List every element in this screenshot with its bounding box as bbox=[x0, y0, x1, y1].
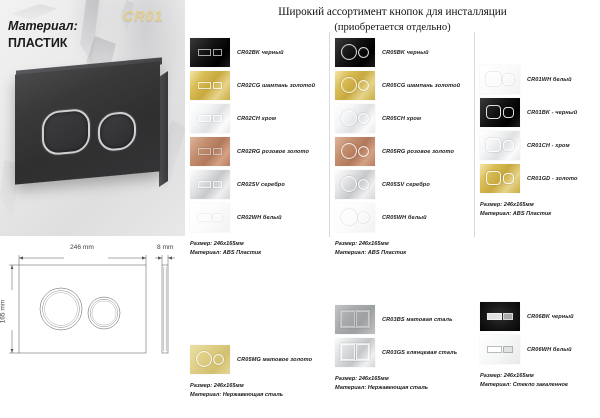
spec-size: Размер: 246х165мм bbox=[335, 240, 406, 249]
swatch-cr05cg[interactable] bbox=[335, 71, 375, 100]
spec-material: Материал: Нержавеющая сталь bbox=[335, 384, 428, 393]
technical-drawing-svg bbox=[0, 238, 185, 418]
swatch-cr05sv[interactable] bbox=[335, 170, 375, 199]
dimension-height-label: 165 mm bbox=[0, 300, 6, 324]
catalog-item-row[interactable]: CR05SV серебро bbox=[335, 170, 430, 199]
column-divider bbox=[474, 32, 475, 237]
button-framed-squares bbox=[335, 305, 375, 334]
catalog-title-line1: Широкий ассортимент кнопок для инсталляц… bbox=[185, 4, 600, 20]
flush-plate-3d-render bbox=[15, 63, 172, 183]
catalog-item-row[interactable]: CR02SV серебро bbox=[190, 170, 285, 199]
catalog-item-label: CR06BK черный bbox=[527, 314, 574, 320]
catalog-item-label: CR03BS матовая сталь bbox=[382, 317, 453, 323]
catalog-item-row[interactable]: CR06WH белый bbox=[480, 335, 572, 364]
catalog-item-row[interactable]: CR01GD - золото bbox=[480, 164, 578, 193]
swatch-cr01bk[interactable] bbox=[480, 98, 520, 127]
catalog-item-row[interactable]: CR05CG шампань золотой bbox=[335, 71, 460, 100]
catalog-title: Широкий ассортимент кнопок для инсталляц… bbox=[185, 4, 600, 36]
swatch-cr05rg[interactable] bbox=[335, 137, 375, 166]
button-circles bbox=[335, 104, 375, 133]
button-circles bbox=[335, 203, 375, 232]
catalog-item-label: CR02CG шампань золотой bbox=[237, 83, 315, 89]
catalog-group-spec: Размер: 246х165ммМатериал: ABS Пластик bbox=[480, 201, 551, 219]
catalog-item-row[interactable]: CR02RG розовое золото bbox=[190, 137, 309, 166]
spec-size: Размер: 246х165мм bbox=[190, 382, 283, 391]
button-rounded-squares bbox=[480, 131, 520, 160]
catalog-group-spec: Размер: 246х165ммМатериал: Стекло закале… bbox=[480, 372, 568, 390]
plate-front-face bbox=[15, 61, 160, 184]
button-rounded-squares bbox=[480, 98, 520, 127]
spec-material: Материал: Стекло закаленное bbox=[480, 381, 568, 390]
swatch-cr02bk[interactable] bbox=[190, 38, 230, 67]
spec-material: Материал: ABS Пластик bbox=[190, 249, 261, 258]
spec-material: Материал: Нержавеющая сталь bbox=[190, 391, 283, 400]
product-hero-panel: CR01 Материал: ПЛАСТИК bbox=[0, 0, 185, 418]
swatch-cr03bs[interactable] bbox=[335, 305, 375, 334]
catalog-item-row[interactable]: CR05WH белый bbox=[335, 203, 427, 232]
swatch-cr01wh[interactable] bbox=[480, 65, 520, 94]
catalog-group-spec: Размер: 246х165ммМатериал: ABS Пластик bbox=[335, 240, 406, 258]
spec-size: Размер: 246х165мм bbox=[480, 372, 568, 381]
button-framed-squares bbox=[335, 338, 375, 367]
button-rectangles bbox=[190, 137, 230, 166]
column-divider bbox=[329, 32, 330, 237]
technical-drawing: 246 mm 165 mm 8 mm bbox=[0, 238, 185, 418]
catalog-item-row[interactable]: CR05RG розовое золото bbox=[335, 137, 454, 166]
catalog-item-label: CR01WH белый bbox=[527, 77, 572, 83]
material-caption-label: Материал: bbox=[8, 18, 78, 35]
button-bars bbox=[480, 302, 520, 331]
button-circles bbox=[335, 71, 375, 100]
button-bars bbox=[480, 335, 520, 364]
button-circles bbox=[335, 38, 375, 67]
swatch-cr06bk[interactable] bbox=[480, 302, 520, 331]
catalog-item-label: CR01BK - черный bbox=[527, 110, 577, 116]
button-rectangles bbox=[190, 104, 230, 133]
swatch-cr01gd[interactable] bbox=[480, 164, 520, 193]
catalog-group-spec: Размер: 246х165ммМатериал: Нержавеющая с… bbox=[335, 375, 428, 393]
catalog-item-label: CR03GS глянцевая сталь bbox=[382, 350, 457, 356]
catalog-item-row[interactable]: CR02CG шампань золотой bbox=[190, 71, 315, 100]
flush-button-small bbox=[98, 111, 136, 152]
hero-image: CR01 Материал: ПЛАСТИК bbox=[0, 0, 185, 236]
catalog-item-label: CR05SV серебро bbox=[382, 182, 430, 188]
spec-material: Материал: ABS Пластик bbox=[480, 210, 551, 219]
swatch-cr02cg[interactable] bbox=[190, 71, 230, 100]
swatch-cr05wh[interactable] bbox=[335, 203, 375, 232]
catalog-item-label: CR02SV серебро bbox=[237, 182, 285, 188]
catalog-item-row[interactable]: CR05CH хром bbox=[335, 104, 421, 133]
catalog-item-label: CR05CH хром bbox=[382, 116, 421, 122]
dimension-width-label: 246 mm bbox=[70, 244, 94, 251]
catalog-item-label: CR01CH - хром bbox=[527, 143, 570, 149]
catalog-item-label: CR01GD - золото bbox=[527, 176, 578, 182]
catalog-item-row[interactable]: CR05MG матовое золото bbox=[190, 345, 312, 374]
button-rounded-squares bbox=[480, 164, 520, 193]
button-rectangles bbox=[190, 38, 230, 67]
swatch-cr05mg[interactable] bbox=[190, 345, 230, 374]
button-rounded-squares bbox=[480, 65, 520, 94]
swatch-cr02sv[interactable] bbox=[190, 170, 230, 199]
catalog-item-label: CR05CG шампань золотой bbox=[382, 83, 460, 89]
swatch-cr06wh[interactable] bbox=[480, 335, 520, 364]
catalog-item-label: CR02RG розовое золото bbox=[237, 149, 309, 155]
catalog-group-spec: Размер: 246х165ммМатериал: Нержавеющая с… bbox=[190, 382, 283, 400]
catalog-item-label: CR05MG матовое золото bbox=[237, 357, 312, 363]
button-rectangles bbox=[190, 203, 230, 232]
spec-size: Размер: 246х165мм bbox=[190, 240, 261, 249]
catalog-title-line2: (приобретается отдельно) bbox=[185, 20, 600, 35]
flush-button-large bbox=[42, 108, 90, 156]
catalog-group-spec: Размер: 246х165ммМатериал: ABS Пластик bbox=[190, 240, 261, 258]
catalog-item-label: CR05BK черный bbox=[382, 50, 429, 56]
catalog-item-label: CR06WH белый bbox=[527, 347, 572, 353]
material-caption-value: ПЛАСТИК bbox=[8, 35, 78, 52]
catalog-item-row[interactable]: CR06BK черный bbox=[480, 302, 574, 331]
catalog-item-label: CR05RG розовое золото bbox=[382, 149, 454, 155]
button-circles bbox=[190, 345, 230, 374]
button-circles bbox=[335, 170, 375, 199]
swatch-cr03gs[interactable] bbox=[335, 338, 375, 367]
catalog-panel: Широкий ассортимент кнопок для инсталляц… bbox=[185, 0, 600, 418]
button-rectangles bbox=[190, 71, 230, 100]
catalog-item-row[interactable]: CR02WH белый bbox=[190, 203, 282, 232]
spec-size: Размер: 246х165мм bbox=[480, 201, 551, 210]
swatch-cr05ch[interactable] bbox=[335, 104, 375, 133]
catalog-item-row[interactable]: CR01BK - черный bbox=[480, 98, 577, 127]
catalog-item-row[interactable]: CR02CH хром bbox=[190, 104, 276, 133]
spec-material: Материал: ABS Пластик bbox=[335, 249, 406, 258]
catalog-item-row[interactable]: CR05BK черный bbox=[335, 38, 429, 67]
button-circles bbox=[335, 137, 375, 166]
catalog-item-label: CR02CH хром bbox=[237, 116, 276, 122]
catalog-item-row[interactable]: CR01WH белый bbox=[480, 65, 572, 94]
material-caption: Материал: ПЛАСТИК bbox=[8, 18, 78, 51]
spec-size: Размер: 246х165мм bbox=[335, 375, 428, 384]
dimension-thickness-label: 8 mm bbox=[157, 244, 173, 251]
product-code-badge: CR01 bbox=[123, 8, 163, 25]
swatch-cr02wh[interactable] bbox=[190, 203, 230, 232]
swatch-cr05bk[interactable] bbox=[335, 38, 375, 67]
swatch-cr02ch[interactable] bbox=[190, 104, 230, 133]
catalog-item-row[interactable]: CR03BS матовая сталь bbox=[335, 305, 453, 334]
swatch-cr01ch[interactable] bbox=[480, 131, 520, 160]
catalog-item-row[interactable]: CR03GS глянцевая сталь bbox=[335, 338, 457, 367]
catalog-item-label: CR02BK черный bbox=[237, 50, 284, 56]
catalog-item-row[interactable]: CR02BK черный bbox=[190, 38, 284, 67]
catalog-item-label: CR02WH белый bbox=[237, 215, 282, 221]
catalog-item-row[interactable]: CR01CH - хром bbox=[480, 131, 570, 160]
button-rectangles bbox=[190, 170, 230, 199]
plate-side-edge bbox=[159, 71, 168, 187]
catalog-item-label: CR05WH белый bbox=[382, 215, 427, 221]
swatch-cr02rg[interactable] bbox=[190, 137, 230, 166]
